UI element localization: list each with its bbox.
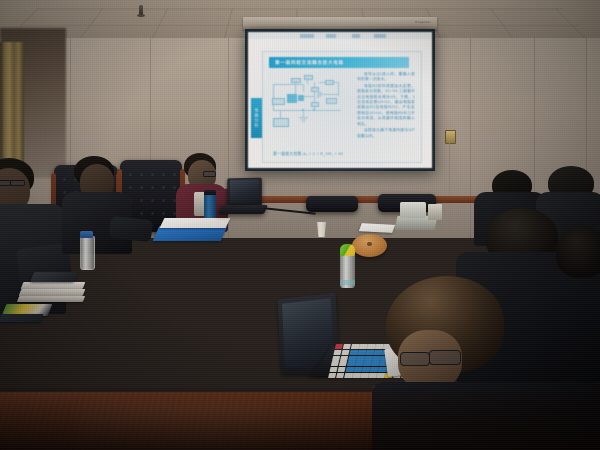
white-papers[interactable] <box>160 218 231 228</box>
glasses-icon <box>203 171 216 177</box>
stacked-books[interactable] <box>17 296 85 302</box>
glasses-icon <box>429 350 461 365</box>
stacked-books[interactable] <box>0 314 44 322</box>
blue-folder[interactable] <box>153 226 228 241</box>
slide-formula: 第一级放大倍数 A₁ = 1 + R_f/R₁ = 40 <box>273 152 353 157</box>
hair <box>556 226 600 278</box>
slide-paragraph-3: 运算放大器下电源内部为10⁶倍置以内。 <box>357 128 415 139</box>
stacked-books[interactable] <box>19 289 86 296</box>
bagel[interactable] <box>352 234 387 257</box>
amplifier-schematic-icon <box>271 74 345 138</box>
slide-side-tab-label: 电路分析 <box>254 108 260 128</box>
arm <box>109 216 153 242</box>
wall-outlet-icon <box>445 130 456 144</box>
dark-smartphone[interactable] <box>30 272 78 282</box>
bottle-cap[interactable] <box>80 231 93 238</box>
green-lid-drink-bottle[interactable] <box>340 254 355 288</box>
slide-content-frame: 电路分析 第一级同相交流耦合放大电路 <box>262 51 422 163</box>
slide-title-bar: 第一级同相交流耦合放大电路 <box>269 57 409 68</box>
projection-screen: 电路分析 第一级同相交流耦合放大电路 <box>245 29 435 171</box>
tissue-pack[interactable] <box>400 202 426 218</box>
presentation-slide: 电路分析 第一级同相交流耦合放大电路 <box>248 39 432 168</box>
table-clutter[interactable] <box>428 204 442 220</box>
conference-room-photo: Projector 电路分析 第一级同相交流耦合放大电路 <box>0 0 600 450</box>
slide-paragraph-2: 电阻R2的作用是加大反馈，提高放大倍数，V1~V4 三极管中点注电阻和光明为V5… <box>357 84 415 127</box>
fire-sprinkler-icon <box>139 5 143 16</box>
housing-brand-label: Projector <box>415 20 431 24</box>
ppt-toolbar-strip <box>248 32 432 39</box>
executive-chair[interactable] <box>306 196 358 212</box>
glasses-icon <box>400 352 430 366</box>
glasses-icon <box>10 180 25 186</box>
table-front-shadow <box>0 388 600 450</box>
glass-water-bottle[interactable] <box>80 236 95 270</box>
stacked-books[interactable] <box>21 282 86 289</box>
white-papers[interactable] <box>359 223 395 233</box>
slide-text-block: 信号从Q1进入时，要输入信号的第一次放大。 电阻R2的作用是加大反馈，提高放大倍… <box>357 72 415 140</box>
slide-paragraph-1: 信号从Q1进入时，要输入信号的第一次放大。 <box>357 72 415 83</box>
presenter-laptop-base[interactable] <box>218 205 268 214</box>
slide-side-tab: 电路分析 <box>251 98 262 138</box>
projection-surface: 电路分析 第一级同相交流耦合放大电路 <box>248 32 432 168</box>
slide-title: 第一级同相交流耦合放大电路 <box>269 60 344 66</box>
presenter-laptop-screen[interactable] <box>227 178 262 207</box>
